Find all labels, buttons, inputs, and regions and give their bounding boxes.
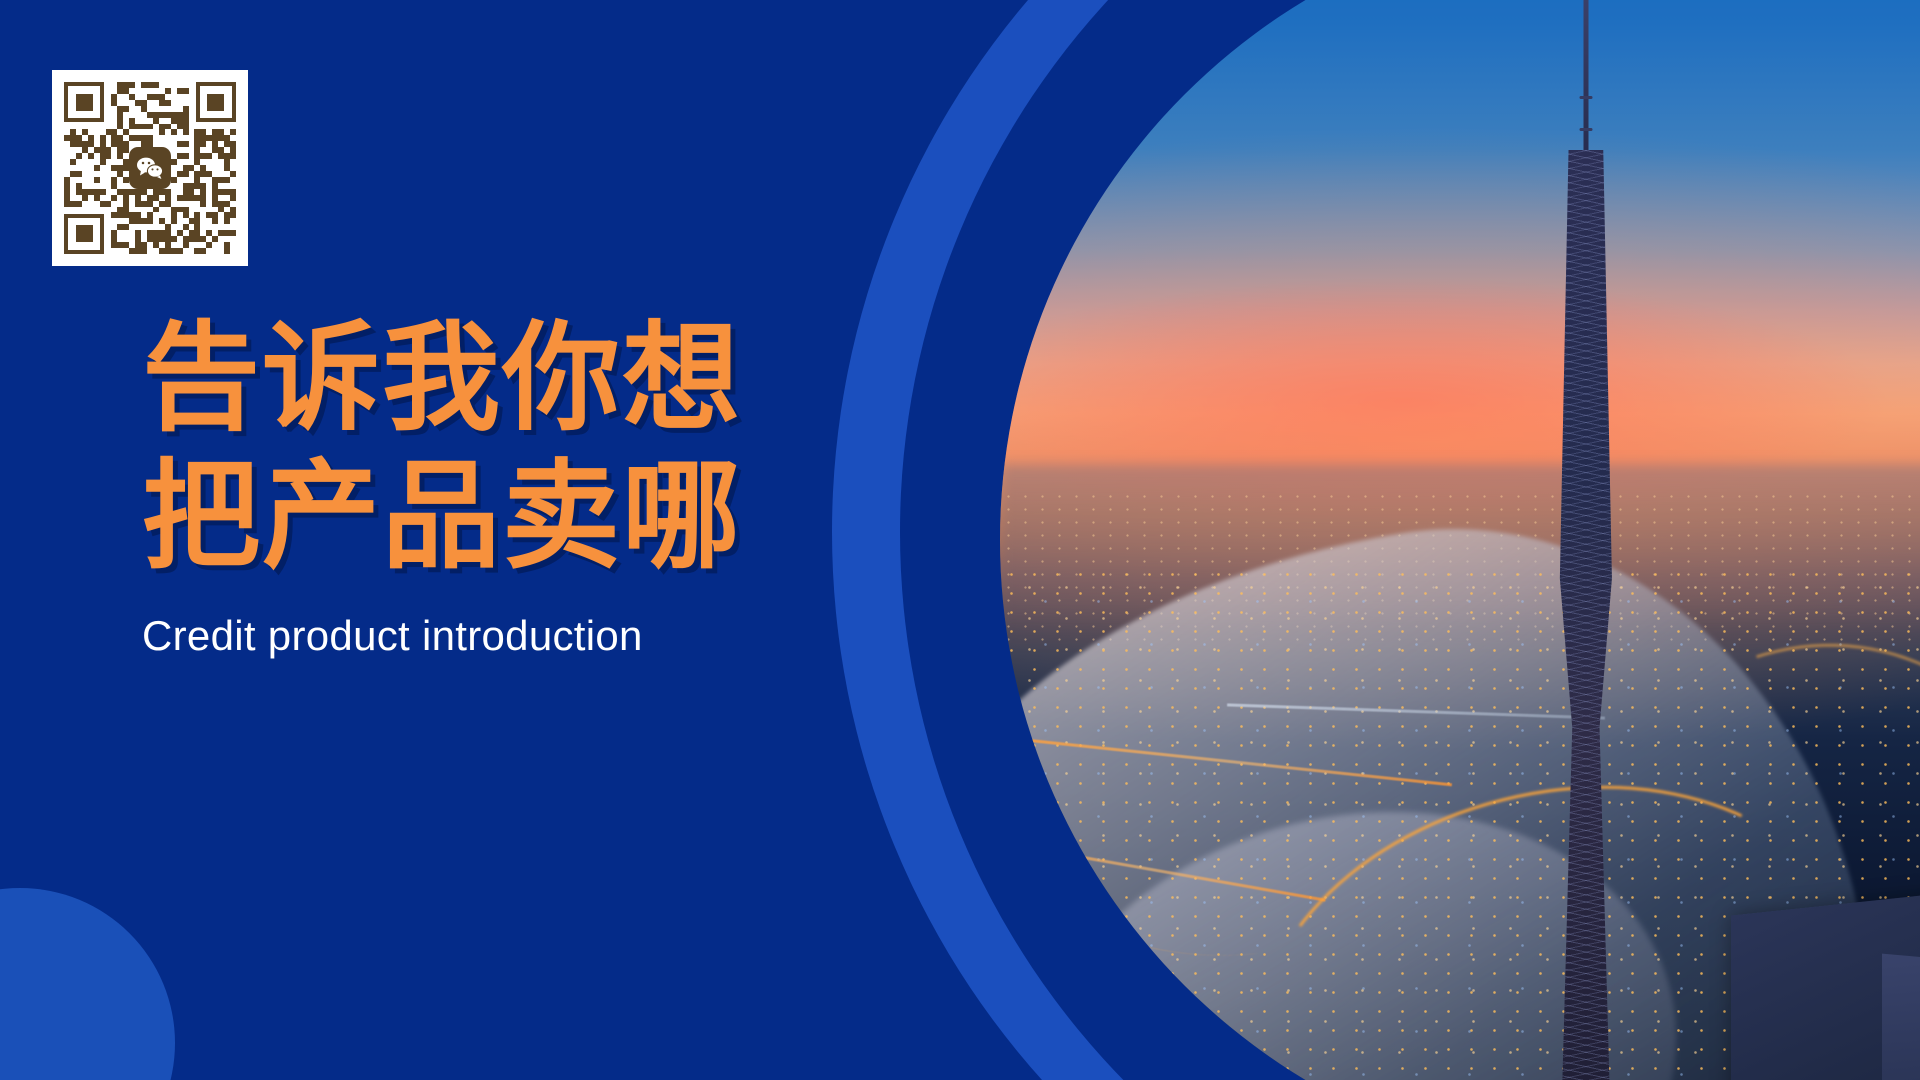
- qr-module-grid: [64, 82, 236, 254]
- canton-tower-ring-1: [1579, 96, 1592, 99]
- presentation-slide: 告诉我你想 把产品卖哪 Credit product introduction: [0, 0, 1920, 1080]
- canton-tower-spire: [1583, 0, 1588, 161]
- decor-corner-circle: [0, 888, 175, 1080]
- hero-photo-circle: [1000, 0, 1920, 1080]
- title-block: 告诉我你想 把产品卖哪 Credit product introduction: [142, 310, 902, 660]
- guangzhou-canton-tower-dusk-photo: [1000, 0, 1920, 1080]
- canton-tower: [1551, 0, 1621, 1080]
- canton-tower-ring-2: [1579, 128, 1592, 131]
- wechat-logo-icon: [129, 147, 171, 189]
- foreground-building-2: [1882, 954, 1920, 1080]
- subtitle: Credit product introduction: [142, 612, 902, 660]
- qr-finder-top-right: [196, 82, 236, 122]
- canton-tower-lattice: [1555, 150, 1617, 1080]
- wechat-qr-code[interactable]: [52, 70, 248, 266]
- headline-line-1: 告诉我你想: [142, 310, 902, 448]
- qr-finder-top-left: [64, 82, 104, 122]
- qr-finder-bottom-left: [64, 214, 104, 254]
- headline-line-2: 把产品卖哪: [142, 448, 902, 586]
